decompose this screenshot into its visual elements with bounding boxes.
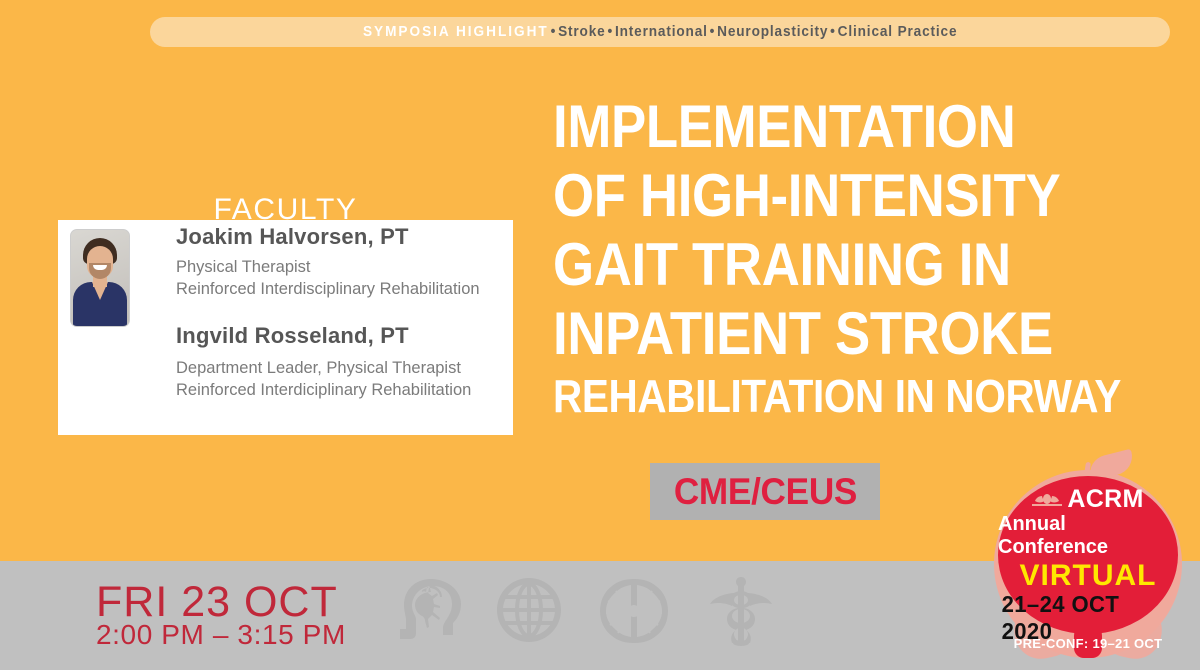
- faculty-member-1: Joakim Halvorsen, PT Physical Therapist …: [176, 224, 505, 301]
- session-time: 2:00 PM – 3:15 PM: [96, 620, 346, 650]
- logo-disc: ACRM Annual Conference VIRTUAL 21–24 OCT…: [998, 476, 1178, 634]
- faculty-details: Department Leader, Physical Therapist Re…: [176, 358, 505, 402]
- avatar: [70, 229, 130, 327]
- promo-banner: SYMPOSIA HIGHLIGHT•Stroke•International•…: [0, 0, 1200, 670]
- ribbon-separator-icon: •: [828, 24, 837, 40]
- cme-ceus-label: CME/CEUS: [673, 471, 856, 513]
- ribbon-topic-international: International: [615, 24, 708, 40]
- ribbon-topic-clinical-practice: Clinical Practice: [838, 24, 958, 40]
- faculty-title: Physical Therapist: [176, 257, 505, 279]
- lotus-flower-icon: [1032, 493, 1062, 506]
- symposia-highlight-ribbon: SYMPOSIA HIGHLIGHT•Stroke•International•…: [150, 17, 1170, 47]
- title-line-3: GAIT TRAINING IN: [553, 230, 1116, 299]
- faculty-member-2: Ingvild Rosseland, PT Department Leader,…: [176, 323, 505, 402]
- logo-annual-conference-label: Annual Conference: [998, 513, 1178, 559]
- ribbon-topic-neuroplasticity: Neuroplasticity: [717, 24, 828, 40]
- ribbon-separator-icon: •: [549, 24, 558, 40]
- session-date: FRI 23 OCT: [96, 580, 338, 624]
- ribbon-separator-icon: •: [708, 24, 717, 40]
- caduceus-icon: [708, 575, 774, 647]
- faculty-name: Ingvild Rosseland, PT: [176, 323, 505, 349]
- faculty-affiliation: Reinforced Interdiciplinary Rehabilitati…: [176, 380, 505, 402]
- ribbon-topic-stroke: Stroke: [558, 24, 605, 40]
- title-line-1: IMPLEMENTATION: [553, 92, 1116, 161]
- title-line-5: REHABILITATION IN NORWAY: [553, 368, 1116, 424]
- faculty-card: Joakim Halvorsen, PT Physical Therapist …: [58, 220, 513, 435]
- logo-preconference-label: PRE-CONF: 19–21 OCT: [988, 636, 1188, 651]
- logo-virtual-label: VIRTUAL: [1020, 559, 1157, 593]
- logo-title-row: ACRM: [1032, 485, 1143, 514]
- status-badge: CME/CEUS: [650, 463, 880, 520]
- ribbon-separator-icon: •: [605, 24, 614, 40]
- title-line-2: OF HIGH-INTENSITY: [553, 161, 1116, 230]
- faculty-affiliation: Reinforced Interdisciplinary Rehabilitat…: [176, 279, 505, 301]
- faculty-details: Physical Therapist Reinforced Interdisci…: [176, 257, 505, 301]
- logo-acrm-label: ACRM: [1067, 485, 1143, 514]
- faculty-title: Department Leader, Physical Therapist: [176, 358, 505, 380]
- brain-icon: [596, 575, 672, 647]
- title-line-4: INPATIENT STROKE: [553, 299, 1116, 368]
- faculty-name: Joakim Halvorsen, PT: [176, 224, 505, 250]
- topic-icon-row: [398, 575, 788, 650]
- session-title: IMPLEMENTATION OF HIGH-INTENSITY GAIT TR…: [553, 92, 1193, 424]
- head-brain-icon: [398, 575, 464, 647]
- ribbon-text: SYMPOSIA HIGHLIGHT•Stroke•International•…: [363, 24, 957, 40]
- acrm-conference-logo: ACRM Annual Conference VIRTUAL 21–24 OCT…: [988, 452, 1188, 664]
- ribbon-lead-label: SYMPOSIA HIGHLIGHT: [363, 24, 549, 40]
- globe-icon: [494, 575, 564, 647]
